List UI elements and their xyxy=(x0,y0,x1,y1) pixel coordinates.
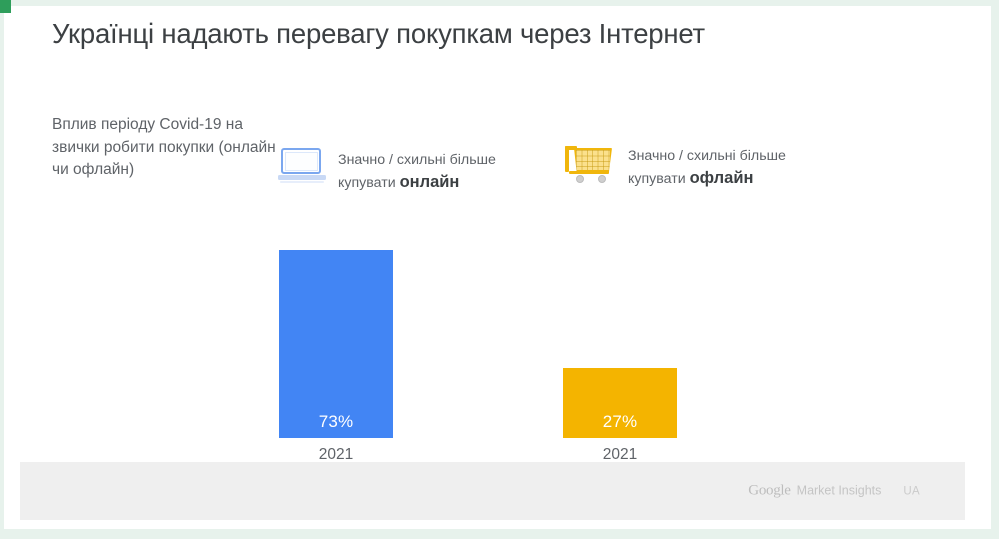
bar-chart: 73% 2021 27% 2021 xyxy=(4,6,991,466)
bar-online: 73% xyxy=(279,250,393,438)
slide-frame: Українці надають перевагу покупкам через… xyxy=(0,0,999,539)
product-name-label: Market Insights xyxy=(797,484,882,498)
slide-canvas: Українці надають перевагу покупкам через… xyxy=(4,6,991,529)
footer-band: Google Market Insights UA xyxy=(20,462,965,520)
country-code-label: UA xyxy=(903,486,920,498)
bar-group-offline: 27% 2021 xyxy=(563,6,677,466)
google-logo: Google xyxy=(748,483,790,500)
bar-group-online: 73% 2021 xyxy=(279,6,393,466)
bar-value-online: 73% xyxy=(279,412,393,432)
footer-branding: Google Market Insights UA xyxy=(748,483,920,500)
bar-offline: 27% xyxy=(563,368,677,438)
bar-value-offline: 27% xyxy=(563,412,677,432)
corner-accent-marker xyxy=(0,0,11,13)
